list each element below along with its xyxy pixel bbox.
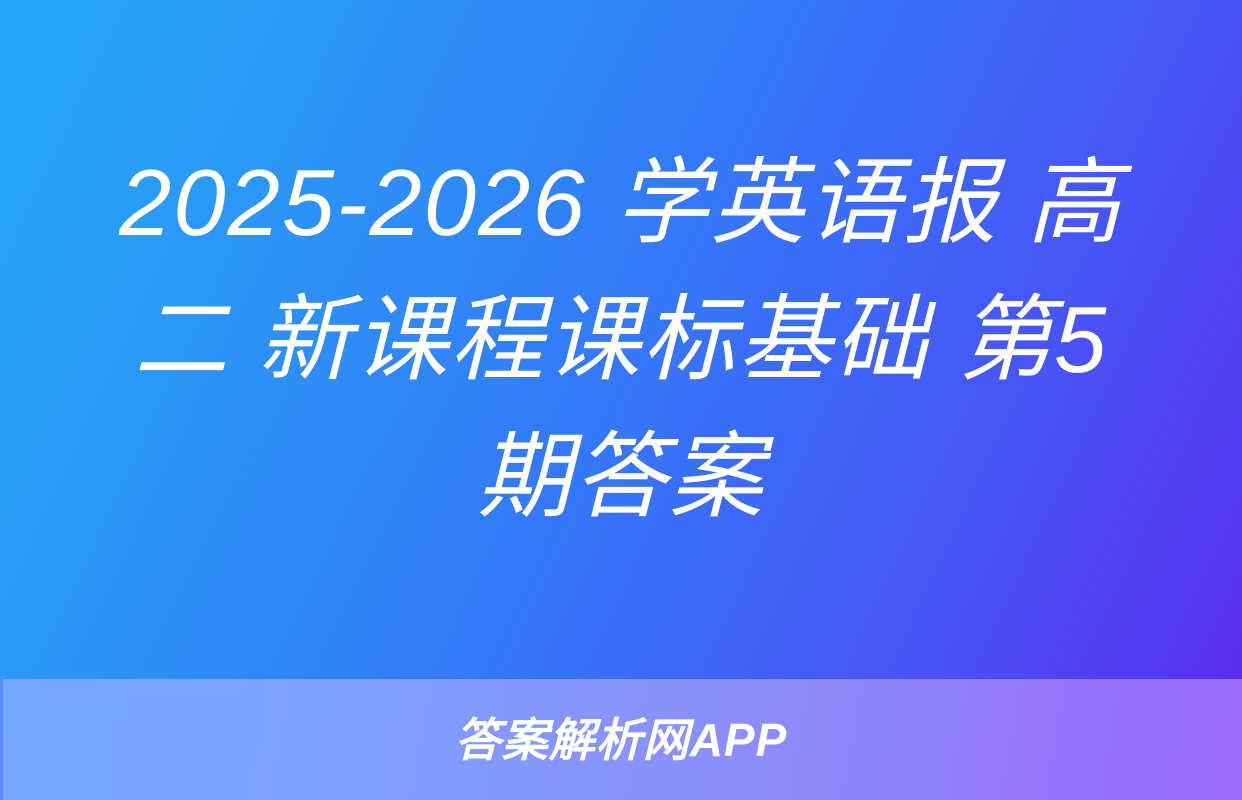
hero-gradient-panel: 2025-2026 学英语报 高 二 新课程课标基础 第5 期答案 — [0, 0, 1242, 679]
brand-footer-band: 答案解析网APP — [0, 679, 1242, 800]
answer-cover-card: 2025-2026 学英语报 高 二 新课程课标基础 第5 期答案 答案解析网A… — [0, 0, 1242, 800]
title-line-2: 二 新课程课标基础 第5 — [71, 271, 1171, 408]
title-line-3: 期答案 — [71, 408, 1171, 545]
brand-label: 答案解析网APP — [455, 717, 788, 763]
title-line-1: 2025-2026 学英语报 高 — [71, 134, 1171, 271]
page-title: 2025-2026 学英语报 高 二 新课程课标基础 第5 期答案 — [71, 134, 1171, 545]
